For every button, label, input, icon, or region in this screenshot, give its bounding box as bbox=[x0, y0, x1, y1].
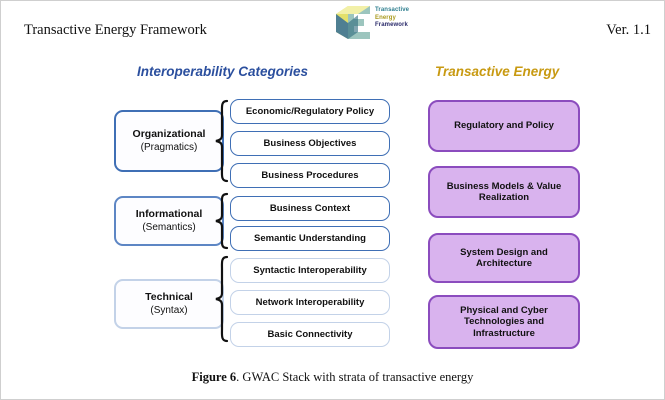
te-box-label: System Design and Architecture bbox=[430, 247, 578, 270]
page-title: Transactive Energy Framework bbox=[24, 22, 207, 39]
transactive-energy-logo: Transactive Energy Framework bbox=[330, 2, 440, 42]
te-box-system-design-and-architecture[interactable]: System Design and Architecture bbox=[428, 233, 580, 283]
stack-box-label: Business Objectives bbox=[260, 138, 361, 150]
category-subtitle: (Syntax) bbox=[150, 304, 187, 317]
logo-wordmark: Transactive Energy Framework bbox=[375, 7, 439, 30]
cube-logo-icon bbox=[330, 2, 374, 40]
stack-box-label: Syntactic Interoperability bbox=[249, 265, 371, 277]
te-box-label: Regulatory and Policy bbox=[450, 120, 558, 132]
te-box-business-models-value-realization[interactable]: Business Models & Value Realization bbox=[428, 166, 580, 218]
figure-caption: Figure 6. GWAC Stack with strata of tran… bbox=[0, 370, 665, 385]
figure-caption-number: Figure 6 bbox=[192, 370, 237, 384]
category-name: Informational bbox=[136, 208, 203, 221]
te-box-label: Business Models & Value Realization bbox=[430, 181, 578, 204]
heading-transactive-energy: Transactive Energy bbox=[435, 64, 559, 79]
category-box-informational[interactable]: Informational (Semantics) bbox=[114, 196, 224, 246]
heading-interoperability-categories: Interoperability Categories bbox=[137, 64, 308, 79]
te-box-regulatory-and-policy[interactable]: Regulatory and Policy bbox=[428, 100, 580, 152]
stack-box-syntactic-interoperability[interactable]: Syntactic Interoperability bbox=[230, 258, 390, 283]
category-subtitle: (Semantics) bbox=[142, 221, 195, 234]
logo-line-2: Energy bbox=[375, 15, 439, 23]
stack-box-semantic-understanding[interactable]: Semantic Understanding bbox=[230, 226, 390, 251]
stack-box-economic-regulatory-policy[interactable]: Economic/Regulatory Policy bbox=[230, 99, 390, 124]
category-box-organizational[interactable]: Organizational (Pragmatics) bbox=[114, 110, 224, 172]
te-box-label: Physical and Cyber Technologies and Infr… bbox=[430, 305, 578, 340]
version-label: Ver. 1.1 bbox=[606, 22, 651, 39]
stack-box-label: Business Context bbox=[266, 203, 354, 215]
category-name: Technical bbox=[145, 291, 193, 304]
stack-box-label: Network Interoperability bbox=[252, 297, 369, 309]
te-box-physical-cyber-technologies-infrastructure[interactable]: Physical and Cyber Technologies and Infr… bbox=[428, 295, 580, 349]
stack-box-label: Economic/Regulatory Policy bbox=[242, 106, 378, 118]
stack-box-business-objectives[interactable]: Business Objectives bbox=[230, 131, 390, 156]
logo-line-3: Framework bbox=[375, 22, 439, 30]
stack-box-label: Basic Connectivity bbox=[264, 329, 357, 341]
stack-box-business-context[interactable]: Business Context bbox=[230, 196, 390, 221]
stack-box-basic-connectivity[interactable]: Basic Connectivity bbox=[230, 322, 390, 347]
document-header: Transactive Energy Framework Ver. 1.1 Tr… bbox=[0, 0, 665, 52]
stack-box-label: Business Procedures bbox=[257, 170, 362, 182]
stack-box-label: Semantic Understanding bbox=[250, 233, 370, 245]
category-subtitle: (Pragmatics) bbox=[141, 141, 198, 154]
stack-box-network-interoperability[interactable]: Network Interoperability bbox=[230, 290, 390, 315]
stack-box-business-procedures[interactable]: Business Procedures bbox=[230, 163, 390, 188]
logo-line-1: Transactive bbox=[375, 7, 439, 15]
category-name: Organizational bbox=[133, 128, 206, 141]
category-box-technical[interactable]: Technical (Syntax) bbox=[114, 279, 224, 329]
figure-caption-text: . GWAC Stack with strata of transactive … bbox=[236, 370, 473, 384]
